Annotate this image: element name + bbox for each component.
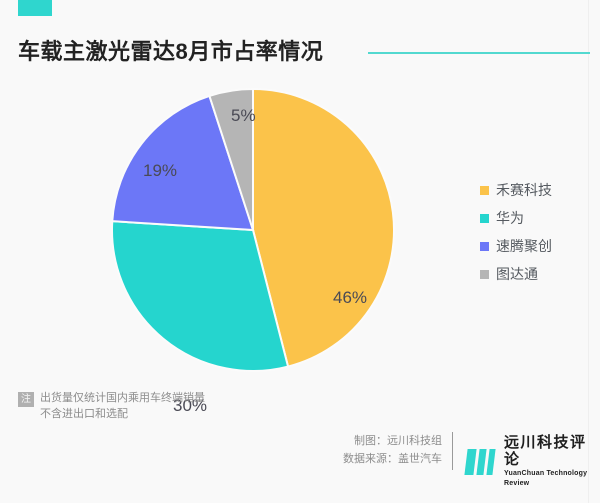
credits: 制图：远川科技组 数据来源：盖世汽车 (342, 432, 442, 468)
chart-legend: 禾赛科技 华为 速腾聚创 图达通 (480, 176, 590, 288)
brand-name-en: YuanChuan Technology Review (504, 469, 600, 489)
footnote-text: 出货量仅统计国内乘用车终端销量 不含进出口和选配 (40, 390, 205, 422)
accent-block (18, 0, 52, 16)
pie-svg (111, 88, 395, 372)
brand-text: 远川科技评论 YuanChuan Technology Review (504, 434, 600, 489)
pie-chart: 46% 30% 19% 5% (111, 88, 395, 372)
legend-swatch-icon-2 (480, 242, 489, 251)
pie-label-3: 5% (231, 106, 256, 126)
credit-line-1: 制图：远川科技组 (342, 432, 442, 450)
footnote-line-2: 不含进出口和选配 (40, 408, 128, 420)
brand-bar-2 (476, 449, 486, 475)
page-title: 车载主激光雷达8月市占率情况 (18, 38, 323, 66)
infographic-page: 车载主激光雷达8月市占率情况 46% 30% 19% 5% 禾赛科技 华为 速腾… (0, 0, 600, 503)
legend-item-2[interactable]: 速腾聚创 (480, 232, 590, 260)
brand-logo: 远川科技评论 YuanChuan Technology Review (466, 434, 600, 489)
brand-name-cn: 远川科技评论 (504, 434, 600, 468)
credit-divider (452, 432, 453, 470)
footnote: 注 出货量仅统计国内乘用车终端销量 不含进出口和选配 (18, 390, 205, 422)
legend-label-2: 速腾聚创 (496, 236, 552, 256)
brand-bar-1 (464, 449, 476, 475)
footnote-badge: 注 (18, 392, 34, 407)
legend-item-1[interactable]: 华为 (480, 204, 590, 232)
pie-label-0: 46% (333, 288, 367, 308)
brand-mark-icon (466, 449, 497, 475)
legend-swatch-icon-0 (480, 186, 489, 195)
legend-item-3[interactable]: 图达通 (480, 260, 590, 288)
legend-swatch-icon-1 (480, 214, 489, 223)
legend-item-0[interactable]: 禾赛科技 (480, 176, 590, 204)
legend-swatch-icon-3 (480, 270, 489, 279)
pie-label-2: 19% (143, 161, 177, 181)
brand-bar-3 (486, 449, 495, 475)
legend-label-0: 禾赛科技 (496, 180, 552, 200)
credit-line-2: 数据来源：盖世汽车 (342, 450, 442, 468)
footnote-line-1: 出货量仅统计国内乘用车终端销量 (40, 392, 205, 404)
legend-label-3: 图达通 (496, 264, 538, 284)
title-rule (368, 52, 590, 54)
legend-label-1: 华为 (496, 208, 524, 228)
